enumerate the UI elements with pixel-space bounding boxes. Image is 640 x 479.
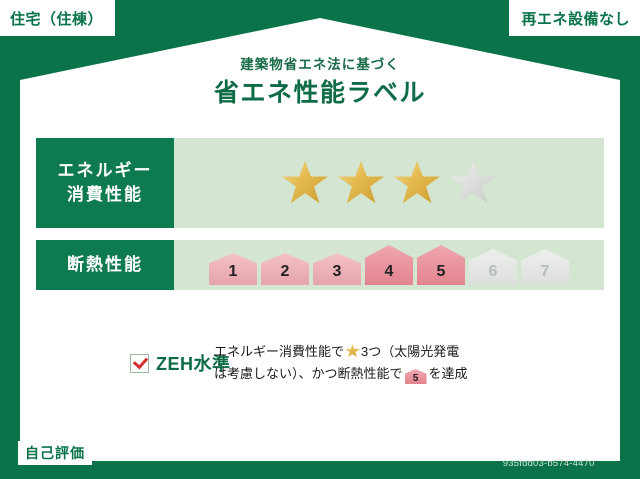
star-filled-icon <box>393 160 441 206</box>
star-filled-icon <box>281 160 329 206</box>
row-energy-label-line1: エネルギー <box>36 159 174 183</box>
row-energy-value <box>174 160 604 206</box>
heading-subtitle: 建築物省エネ法に基づく <box>0 56 640 74</box>
insulation-badge-icon: 5 <box>405 369 427 384</box>
row-energy-label-line2: 消費性能 <box>36 183 174 207</box>
document-id: 935fdd03-b574-4470 <box>475 458 622 469</box>
zeh-desc-star-count: 3つ（太陽光発電 <box>361 344 459 359</box>
star-icon <box>345 344 360 358</box>
zeh-standard-row: ZEH水準 エネルギー消費性能で3つ（太陽光発電は考慮しない）、かつ断熱性能で5… <box>36 338 604 388</box>
label-heading: 建築物省エネ法に基づく 省エネ性能ラベル <box>0 56 640 110</box>
energy-label-card: 住宅（住棟） 再エネ設備なし 建築物省エネ法に基づく 省エネ性能ラベル エネルギ… <box>0 0 640 479</box>
insulation-level-4: 4 <box>365 245 413 285</box>
insulation-level-1: 1 <box>209 253 257 285</box>
footer-right: 評価日 2024年5月23日 935fdd03-b574-4470 <box>475 435 622 469</box>
star-rating <box>281 160 497 206</box>
row-insulation-performance: 断熱性能 1234567 <box>36 240 604 290</box>
insulation-level-3: 3 <box>313 253 361 285</box>
property-address: 山形県山形市大字松原字東谷地 <box>99 444 285 463</box>
evaluation-date: 評価日 2024年5月23日 <box>475 435 622 455</box>
row-insulation-label-line1: 断熱性能 <box>36 253 174 277</box>
row-energy-performance: エネルギー 消費性能 <box>36 138 604 228</box>
row-energy-label: エネルギー 消費性能 <box>36 138 174 228</box>
tag-building-type: 住宅（住棟） <box>0 0 115 36</box>
zeh-desc-part3: を達成 <box>429 366 468 381</box>
zeh-desc-part2: は考慮しない）、かつ断熱性能で <box>214 366 403 381</box>
insulation-level-2: 2 <box>261 253 309 285</box>
zeh-description: エネルギー消費性能で3つ（太陽光発電は考慮しない）、かつ断熱性能で5を達成 <box>204 341 604 385</box>
star-empty-icon <box>449 160 497 206</box>
page-title: 省エネ性能ラベル <box>0 76 640 110</box>
zeh-checkbox-checked-icon <box>130 354 149 373</box>
zeh-check-group: ZEH水準 <box>36 350 204 376</box>
insulation-level-scale: 1234567 <box>209 245 569 285</box>
zeh-desc-part1: エネルギー消費性能で <box>214 344 344 359</box>
star-filled-icon <box>337 160 385 206</box>
tag-renewable-energy: 再エネ設備なし <box>509 0 640 36</box>
insulation-level-7: 7 <box>521 249 569 285</box>
footer-left: 自己評価 山形県山形市大字松原字東谷地 <box>18 441 285 465</box>
insulation-level-5: 5 <box>417 245 465 285</box>
row-insulation-value: 1234567 <box>174 245 604 285</box>
insulation-level-6: 6 <box>469 249 517 285</box>
row-insulation-label: 断熱性能 <box>36 240 174 290</box>
self-evaluation-badge: 自己評価 <box>18 441 92 465</box>
